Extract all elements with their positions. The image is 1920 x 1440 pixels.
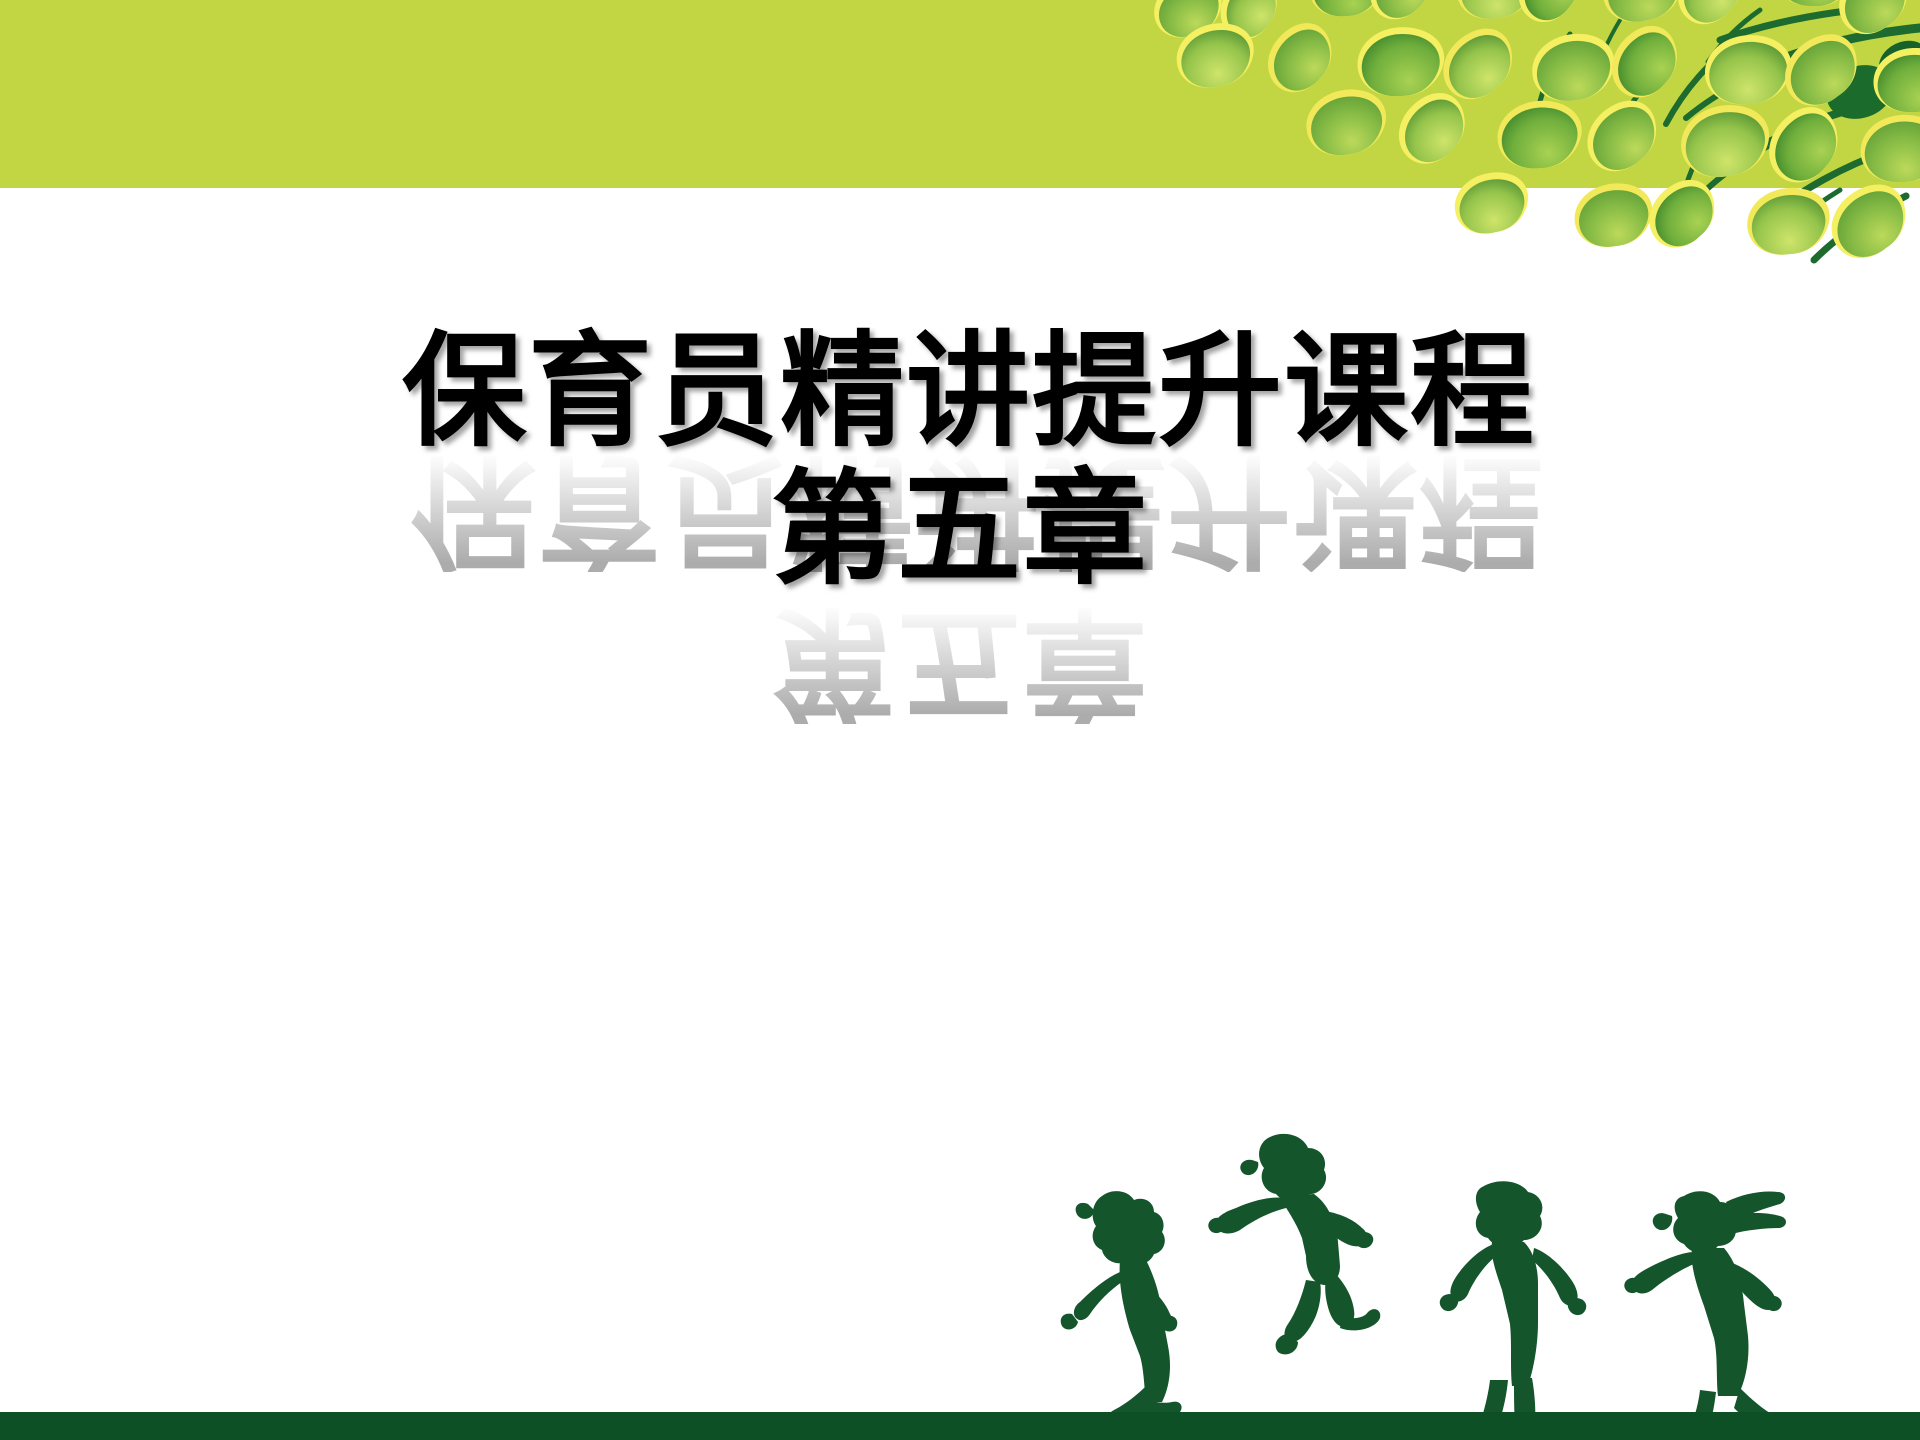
children-silhouettes-icon <box>1010 1120 1920 1420</box>
slide-title-block: 保育员精讲提升课程 第五章 保育员精讲提升课程 第五章 <box>0 330 1920 592</box>
slide-canvas: 保育员精讲提升课程 第五章 保育员精讲提升课程 第五章 <box>0 0 1920 1440</box>
title-line-1: 保育员精讲提升课程 <box>384 330 1536 454</box>
header-band <box>0 0 1920 188</box>
title-line2-reflection: 第五章 <box>384 600 1536 724</box>
footer-bar <box>0 1412 1920 1440</box>
title-line-2: 第五章 <box>384 468 1536 592</box>
